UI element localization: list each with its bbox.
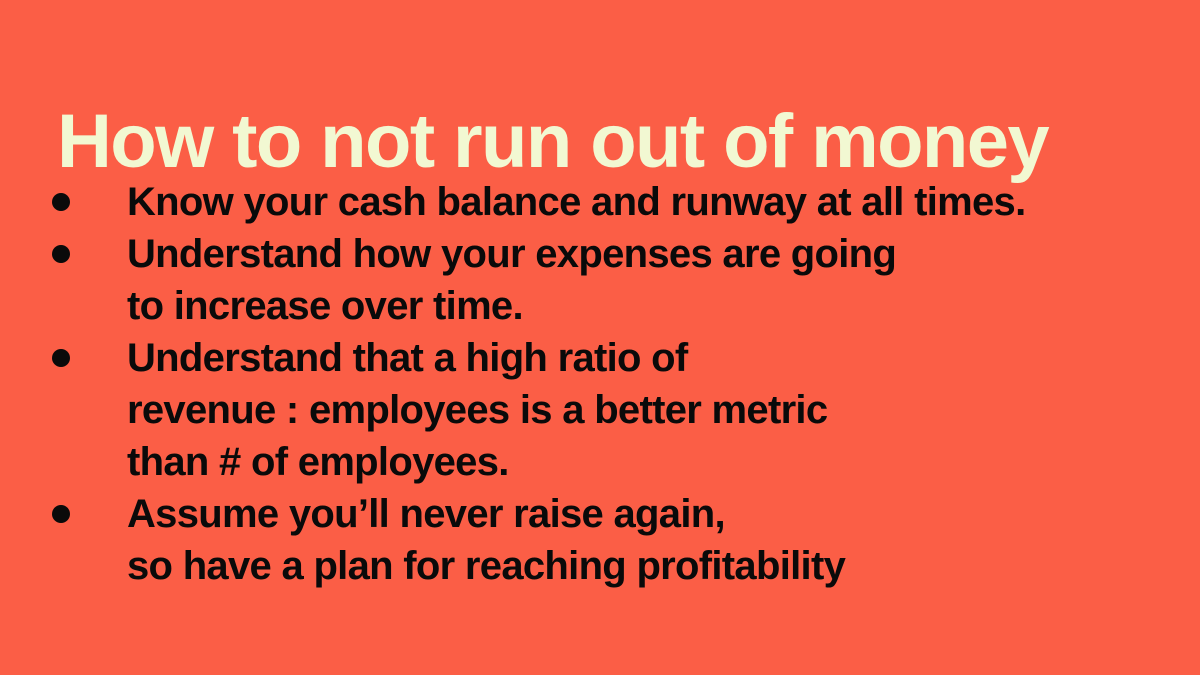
bullet-list: Know your cash balance and runway at all… xyxy=(0,176,1200,592)
list-item: Know your cash balance and runway at all… xyxy=(0,176,1200,228)
bullet-dot-icon xyxy=(52,245,70,263)
list-item-line: Know your cash balance and runway at all… xyxy=(127,176,1200,228)
list-item-line: revenue : employees is a better metric xyxy=(127,384,1200,436)
list-item-text: Understand how your expenses are goingto… xyxy=(127,228,1200,332)
list-item: Understand that a high ratio ofrevenue :… xyxy=(0,332,1200,488)
list-item-line: Understand that a high ratio of xyxy=(127,332,1200,384)
bullet-dot-icon xyxy=(52,349,70,367)
list-item-line: Assume you’ll never raise again, xyxy=(127,488,1200,540)
list-item-line: so have a plan for reaching profitabilit… xyxy=(127,540,1200,592)
slide-canvas: How to not run out of money Know your ca… xyxy=(0,0,1200,675)
bullet-dot-icon xyxy=(52,505,70,523)
list-item: Assume you’ll never raise again,so have … xyxy=(0,488,1200,592)
list-item: Understand how your expenses are goingto… xyxy=(0,228,1200,332)
list-item-text: Understand that a high ratio ofrevenue :… xyxy=(127,332,1200,488)
page-title: How to not run out of money xyxy=(57,99,1147,185)
list-item-line: than # of employees. xyxy=(127,436,1200,488)
list-item-text: Know your cash balance and runway at all… xyxy=(127,176,1200,228)
list-item-text: Assume you’ll never raise again,so have … xyxy=(127,488,1200,592)
list-item-line: to increase over time. xyxy=(127,280,1200,332)
list-item-line: Understand how your expenses are going xyxy=(127,228,1200,280)
bullet-dot-icon xyxy=(52,193,70,211)
